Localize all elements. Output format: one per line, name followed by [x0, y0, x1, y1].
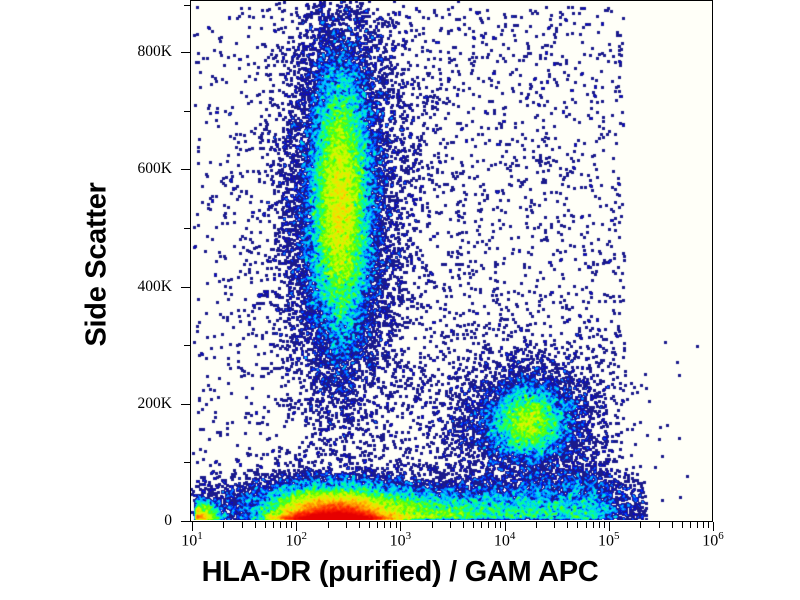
- x-axis-tick-minor: [265, 522, 266, 528]
- x-axis-tick-minor: [396, 522, 397, 528]
- x-axis-tick-minor: [286, 522, 287, 528]
- x-axis-tick-minor: [703, 522, 704, 528]
- y-axis-tick-minor: [184, 111, 190, 112]
- x-axis-tick-minor: [223, 522, 224, 528]
- x-axis-tick-minor: [273, 522, 274, 528]
- x-axis-tick-minor: [577, 522, 578, 528]
- y-axis-tick-label: 200K: [138, 395, 172, 413]
- x-axis-tick-label: 106: [702, 530, 724, 550]
- y-axis-title: Side Scatter: [81, 135, 114, 395]
- x-axis-tick-minor: [450, 522, 451, 528]
- y-axis-tick-label: 400K: [138, 278, 172, 296]
- y-axis-tick-label: 0: [164, 512, 172, 530]
- x-axis-tick-minor: [500, 522, 501, 528]
- x-axis-tick-label: 101: [181, 530, 203, 550]
- x-axis-tick-minor: [280, 522, 281, 528]
- y-axis-tick: [181, 169, 190, 170]
- y-axis-tick: [181, 52, 190, 53]
- x-axis-tick-minor: [599, 522, 600, 528]
- x-axis-tick-minor: [593, 522, 594, 528]
- x-axis-tick-minor: [377, 522, 378, 528]
- x-axis-tick-minor: [640, 522, 641, 528]
- x-axis-tick-minor: [328, 522, 329, 528]
- x-axis-tick-minor: [242, 522, 243, 528]
- y-axis-tick: [181, 287, 190, 288]
- x-axis-tick-label: 104: [494, 530, 516, 550]
- y-axis-tick-label: 800K: [138, 43, 172, 61]
- x-axis-tick-minor: [384, 522, 385, 528]
- x-axis-tick-minor: [697, 522, 698, 528]
- x-axis-tick-minor: [473, 522, 474, 528]
- y-axis-tick-minor: [184, 228, 190, 229]
- x-axis-tick-minor: [481, 522, 482, 528]
- y-axis-tick-minor: [184, 462, 190, 463]
- y-axis-tick-minor: [184, 345, 190, 346]
- flow-cytometry-plot: 0200K400K600K800K 101102103104105106 HLA…: [0, 0, 800, 600]
- x-axis-tick-minor: [255, 522, 256, 528]
- scatter-canvas: [191, 1, 711, 520]
- x-axis-tick-minor: [586, 522, 587, 528]
- x-axis-tick-minor: [359, 522, 360, 528]
- x-axis-tick-minor: [708, 522, 709, 528]
- x-axis-tick-minor: [554, 522, 555, 528]
- x-axis-tick-minor: [346, 522, 347, 528]
- x-axis-tick-minor: [604, 522, 605, 528]
- x-axis-tick-minor: [432, 522, 433, 528]
- x-axis-title: HLA-DR (purified) / GAM APC: [0, 556, 800, 589]
- x-axis-tick-minor: [567, 522, 568, 528]
- x-axis-tick-minor: [369, 522, 370, 528]
- x-axis-tick-minor: [672, 522, 673, 528]
- y-axis-tick-minor: [184, 5, 190, 6]
- plot-area: [190, 0, 713, 522]
- x-axis-tick-label: 102: [285, 530, 307, 550]
- x-axis-tick-label: 103: [390, 530, 412, 550]
- x-axis-tick-label: 105: [598, 530, 620, 550]
- x-axis-tick-minor: [390, 522, 391, 528]
- x-axis-tick-minor: [488, 522, 489, 528]
- y-axis-tick: [181, 521, 190, 522]
- y-axis-tick: [181, 404, 190, 405]
- x-axis-tick-minor: [659, 522, 660, 528]
- x-axis-tick-minor: [463, 522, 464, 528]
- x-axis-tick-minor: [690, 522, 691, 528]
- y-axis-tick-label: 600K: [138, 160, 172, 178]
- x-axis-tick-minor: [495, 522, 496, 528]
- x-axis-tick-minor: [682, 522, 683, 528]
- x-axis-tick-minor: [536, 522, 537, 528]
- x-axis-tick-minor: [291, 522, 292, 528]
